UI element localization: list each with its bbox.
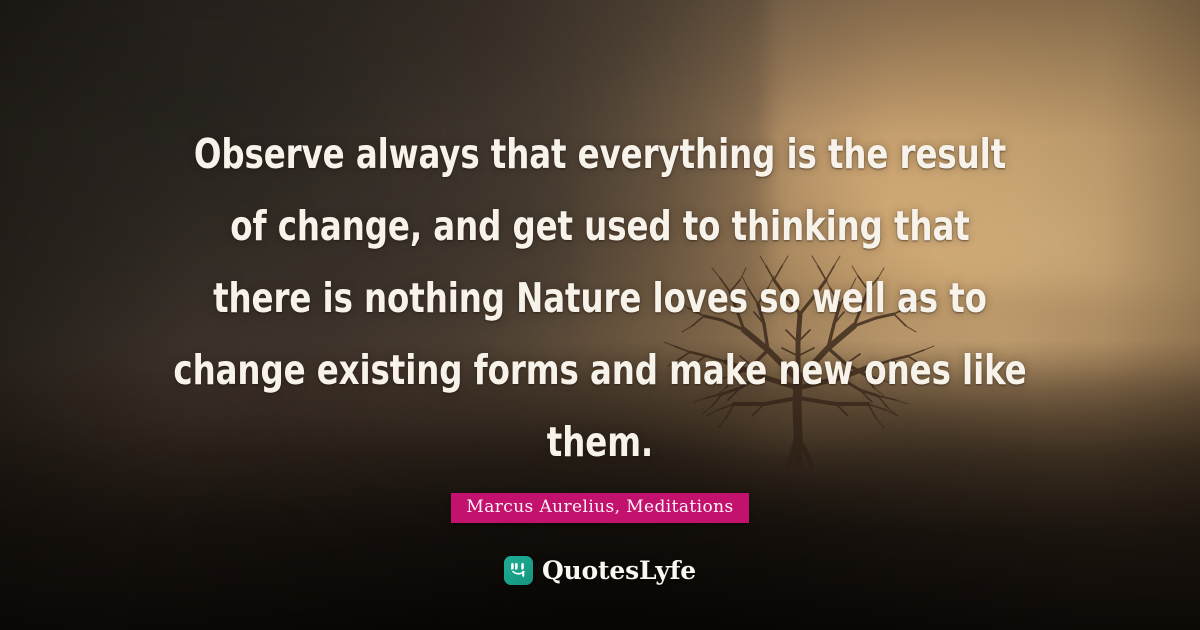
brand-name: QuotesLyfe xyxy=(542,557,696,585)
quote-smiley-icon xyxy=(504,556,533,585)
quote-line: them. xyxy=(156,406,1043,478)
quote-card: Observe always that everything is the re… xyxy=(0,0,1200,630)
attribution-badge[interactable]: Marcus Aurelius, Meditations xyxy=(451,493,748,523)
quote-line: there is nothing Nature loves so well as… xyxy=(156,262,1043,334)
quote-line: of change, and get used to thinking that xyxy=(156,190,1043,262)
quote-line: change existing forms and make new ones … xyxy=(156,334,1043,406)
brand-logo-row[interactable]: QuotesLyfe xyxy=(0,556,1200,585)
quote-text: Observe always that everything is the re… xyxy=(0,118,1200,478)
quote-line: Observe always that everything is the re… xyxy=(156,118,1043,190)
attribution-row: Marcus Aurelius, Meditations xyxy=(0,493,1200,523)
